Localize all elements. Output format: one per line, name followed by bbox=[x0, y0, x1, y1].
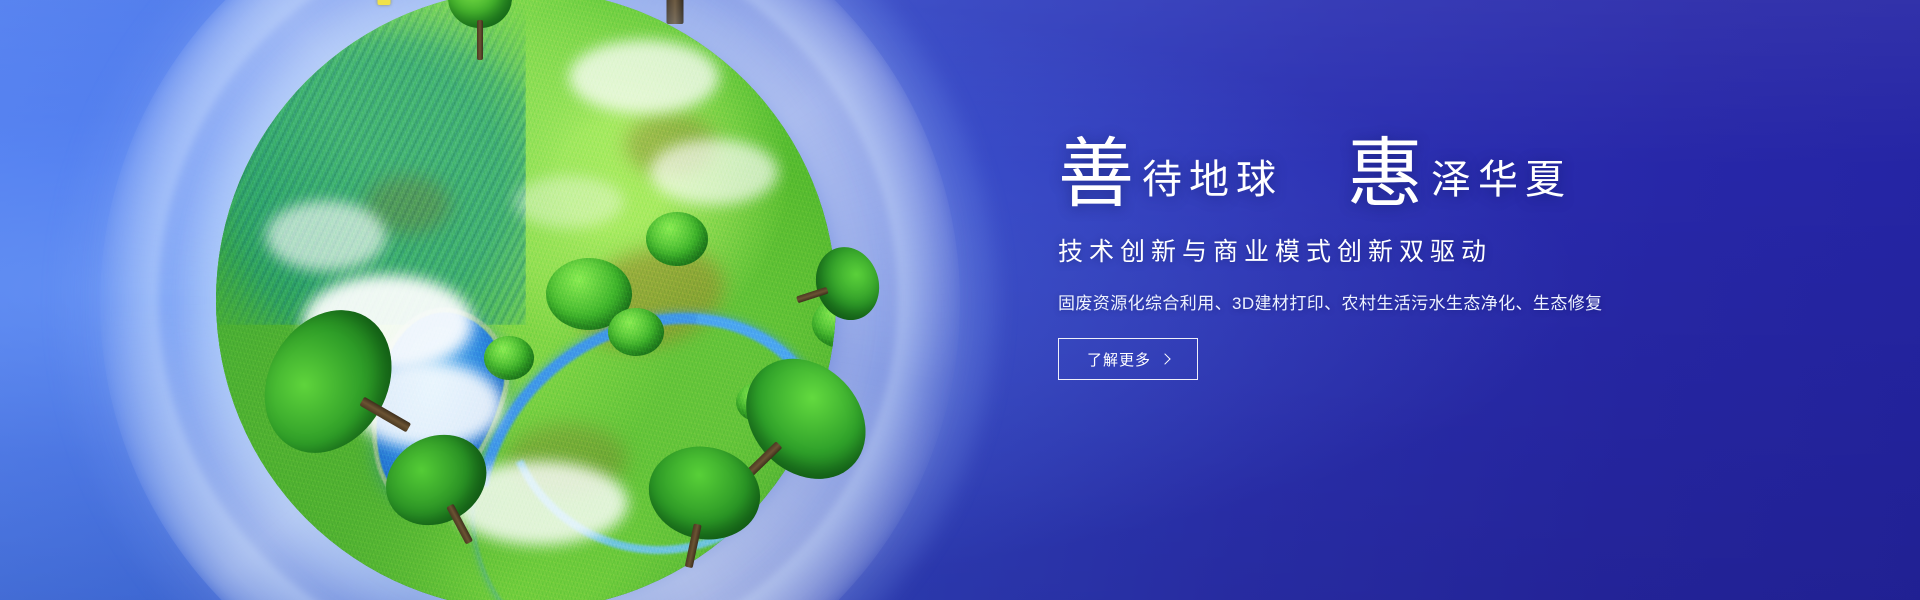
chevron-right-icon bbox=[1159, 353, 1170, 364]
rim-tree bbox=[448, 0, 512, 60]
balloon-basket bbox=[378, 0, 391, 5]
tree-trunk bbox=[477, 20, 483, 60]
hero-copy: 善 待地球 惠 泽华夏 技术创新与商业模式创新双驱动 固废资源化综合利用、3D建… bbox=[1058, 130, 1758, 380]
headline-text-2: 泽华夏 bbox=[1423, 160, 1572, 200]
headline-char-primary-2: 惠 bbox=[1347, 136, 1423, 212]
learn-more-button[interactable]: 了解更多 bbox=[1058, 338, 1198, 380]
tiny-planet-illustration bbox=[118, 0, 938, 600]
headline-text-1: 待地球 bbox=[1134, 160, 1283, 200]
hero-banner: 善 待地球 惠 泽华夏 技术创新与商业模式创新双驱动 固废资源化综合利用、3D建… bbox=[0, 0, 1920, 600]
learn-more-label: 了解更多 bbox=[1087, 349, 1151, 370]
page-title: 善 待地球 惠 泽华夏 bbox=[1058, 130, 1758, 206]
hero-description: 固废资源化综合利用、3D建材打印、农村生活污水生态净化、生态修复 bbox=[1058, 289, 1758, 314]
hero-subtitle: 技术创新与商业模式创新双驱动 bbox=[1058, 232, 1758, 268]
headline-char-primary-1: 善 bbox=[1058, 136, 1134, 212]
hot-air-balloon-icon bbox=[358, 0, 410, 8]
